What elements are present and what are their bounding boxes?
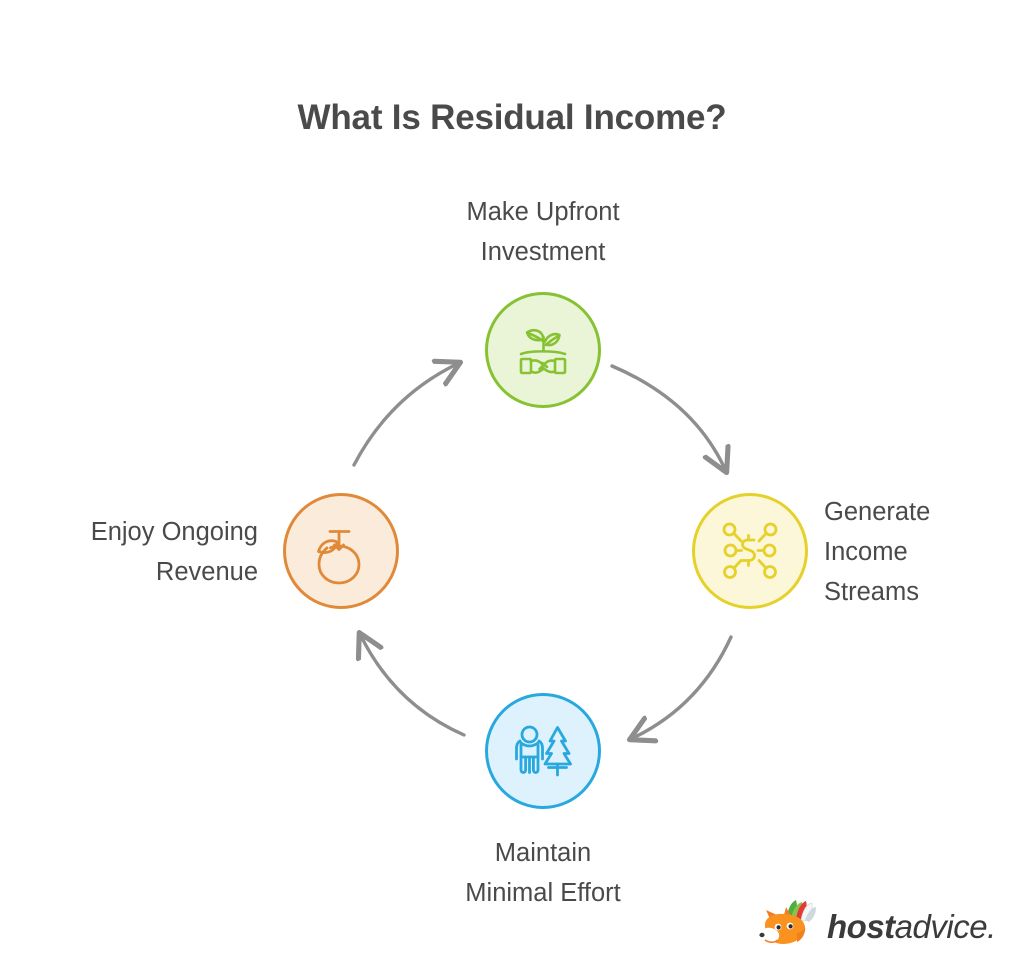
cycle-node-enjoy-ongoing-revenue[interactable] — [283, 493, 399, 609]
dollar-network-icon — [714, 515, 786, 587]
handshake-plant-icon — [506, 313, 580, 387]
cycle-node-generate-income-streams[interactable] — [692, 493, 808, 609]
arrow-bottom-to-left — [362, 638, 464, 735]
cycle-label-make-upfront-investment: Make Upfront Investment — [337, 192, 749, 272]
cycle-label-maintain-minimal-effort: Maintain Minimal Effort — [337, 833, 749, 913]
cycle-label-generate-income-streams: Generate Income Streams — [824, 492, 1024, 612]
fruit-leaf-icon — [305, 515, 377, 587]
infographic-canvas: What Is Residual Income? — [0, 0, 1024, 977]
cycle-label-enjoy-ongoing-revenue: Enjoy Ongoing Revenue — [10, 512, 258, 592]
hostadvice-logo[interactable]: hostadvice. — [757, 898, 987, 956]
fox-mascot-icon — [757, 899, 819, 956]
arrow-top-to-right — [612, 366, 724, 467]
cycle-node-make-upfront-investment[interactable] — [485, 292, 601, 408]
page-title: What Is Residual Income? — [0, 98, 1024, 138]
arrow-left-to-top — [354, 365, 455, 465]
cycle-arrows — [0, 0, 1024, 977]
person-tree-icon — [507, 715, 579, 787]
arrow-right-to-bottom — [635, 637, 731, 737]
logo-word-host: host — [827, 908, 895, 945]
logo-wordmark: hostadvice. — [827, 908, 996, 946]
logo-word-advice: advice. — [895, 908, 996, 945]
cycle-node-maintain-minimal-effort[interactable] — [485, 693, 601, 809]
